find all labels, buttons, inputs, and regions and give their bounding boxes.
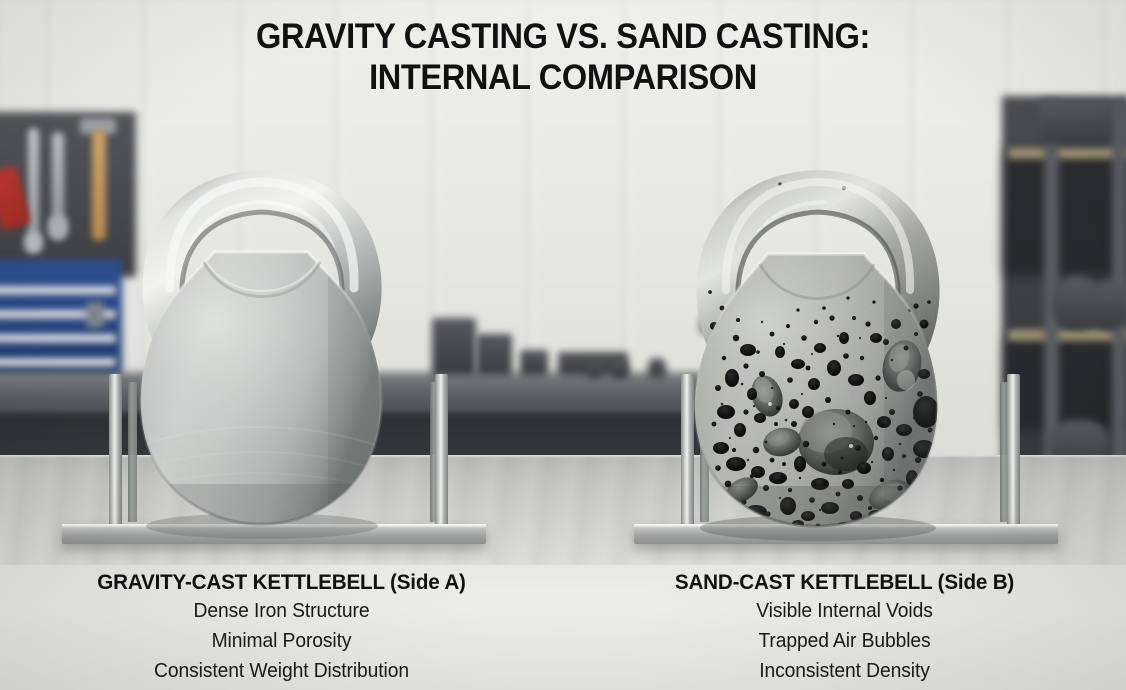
comparison-infographic: GRAVITY CASTING VS. SAND CASTING: INTERN…	[0, 0, 1126, 690]
left-caption-bullet-2: Minimal Porosity	[17, 626, 546, 656]
rack-shelf	[1008, 148, 1126, 159]
metal-part	[612, 360, 628, 378]
rack-shadow	[1004, 338, 1126, 430]
stand-post-front-right	[1007, 374, 1020, 526]
title-line-2: INTERNAL COMPARISON	[39, 57, 1086, 98]
stand-post-front-right	[435, 374, 448, 526]
rack-shelf	[1008, 330, 1126, 341]
metal-part	[588, 362, 602, 378]
metal-part	[476, 334, 512, 376]
rack-shadow	[1004, 150, 1126, 276]
wrench-icon	[28, 128, 39, 243]
right-caption-bullet-1: Visible Internal Voids	[580, 596, 1109, 626]
page-title: GRAVITY CASTING VS. SAND CASTING: INTERN…	[0, 16, 1126, 98]
stored-casting	[1090, 280, 1126, 330]
left-caption-heading: GRAVITY-CAST KETTLEBELL (Side A)	[11, 568, 551, 596]
wrench-head-icon	[48, 215, 68, 239]
stored-casting	[1040, 100, 1110, 144]
wrench-head-icon	[24, 232, 43, 254]
right-caption-bullet-3: Inconsistent Density	[580, 656, 1109, 686]
left-caption-block: GRAVITY-CAST KETTLEBELL (Side A) Dense I…	[0, 568, 563, 686]
metal-part	[432, 318, 476, 376]
right-caption-heading: SAND-CAST KETTLEBELL (Side B)	[574, 568, 1114, 596]
sand-cast-kettlebell	[648, 112, 988, 532]
right-caption-bullet-2: Trapped Air Bubbles	[580, 626, 1109, 656]
metal-part	[520, 350, 548, 376]
gravity-cast-kettlebell	[96, 112, 426, 532]
title-line-1: GRAVITY CASTING VS. SAND CASTING:	[39, 16, 1086, 57]
left-caption-bullet-1: Dense Iron Structure	[17, 596, 546, 626]
right-caption-block: SAND-CAST KETTLEBELL (Side B) Visible In…	[563, 568, 1126, 686]
left-caption-bullet-3: Consistent Weight Distribution	[17, 656, 546, 686]
kettlebell-body-cross-section	[86, 232, 436, 532]
